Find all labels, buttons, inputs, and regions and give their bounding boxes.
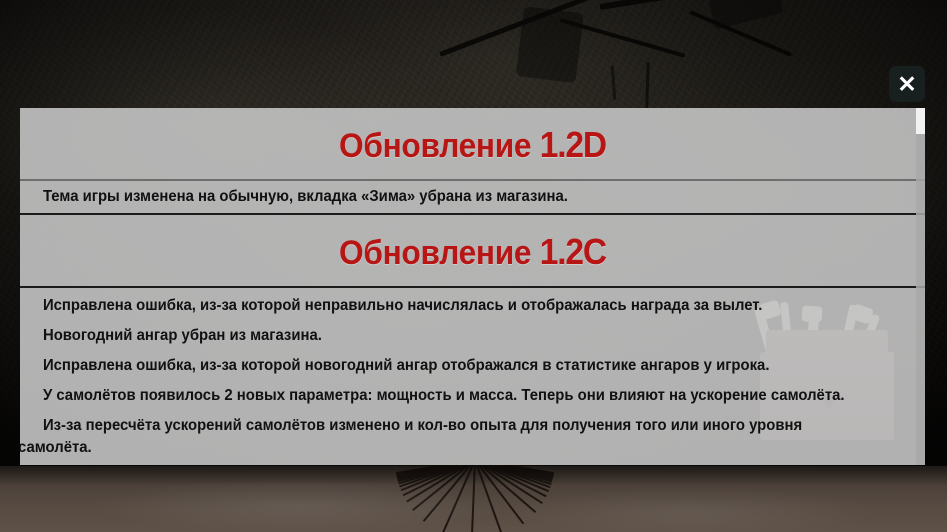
section-heading: Обновление 1.2D <box>52 108 894 179</box>
game-changelog-screen: ✕ Обновление 1.2D Тема игры изменена на … <box>0 0 947 532</box>
changelog-entry: Исправлена ошибка, из-за которой новогод… <box>20 351 889 381</box>
changelog-entry: Из-за пересчёта ускорений самолётов изме… <box>20 411 889 463</box>
changelog-entry: Новогодний ангар убран из магазина. <box>20 321 889 351</box>
close-icon: ✕ <box>897 73 916 96</box>
changelog-section: Обновление 1.2C Исправлена ошибка, из-за… <box>20 215 925 465</box>
heading-version: 1.2C <box>540 231 606 272</box>
close-button[interactable]: ✕ <box>889 66 925 102</box>
changelog-entry: Тема игры изменена на обычную, вкладка «… <box>20 181 889 213</box>
changelog-scrollbar[interactable] <box>916 108 925 465</box>
changelog-entry: Исправлена ошибка, из-за которой неправи… <box>20 291 889 321</box>
heading-word: Обновление <box>339 234 531 272</box>
changelog-section: Обновление 1.2D Тема игры изменена на об… <box>20 108 925 215</box>
heading-version: 1.2D <box>540 124 606 165</box>
floor-sheen <box>0 466 947 532</box>
section-heading: Обновление 1.2C <box>52 215 894 286</box>
wooden-floor <box>0 466 947 532</box>
changelog-panel: Обновление 1.2D Тема игры изменена на об… <box>20 108 925 465</box>
heading-word: Обновление <box>339 127 531 165</box>
changelog-content: Обновление 1.2D Тема игры изменена на об… <box>20 108 925 465</box>
changelog-entry: У самолётов появилось 2 новых параметра:… <box>20 381 889 411</box>
scrollbar-thumb[interactable] <box>916 108 925 134</box>
changelog-entry-list: Исправлена ошибка, из-за которой неправи… <box>20 288 925 465</box>
